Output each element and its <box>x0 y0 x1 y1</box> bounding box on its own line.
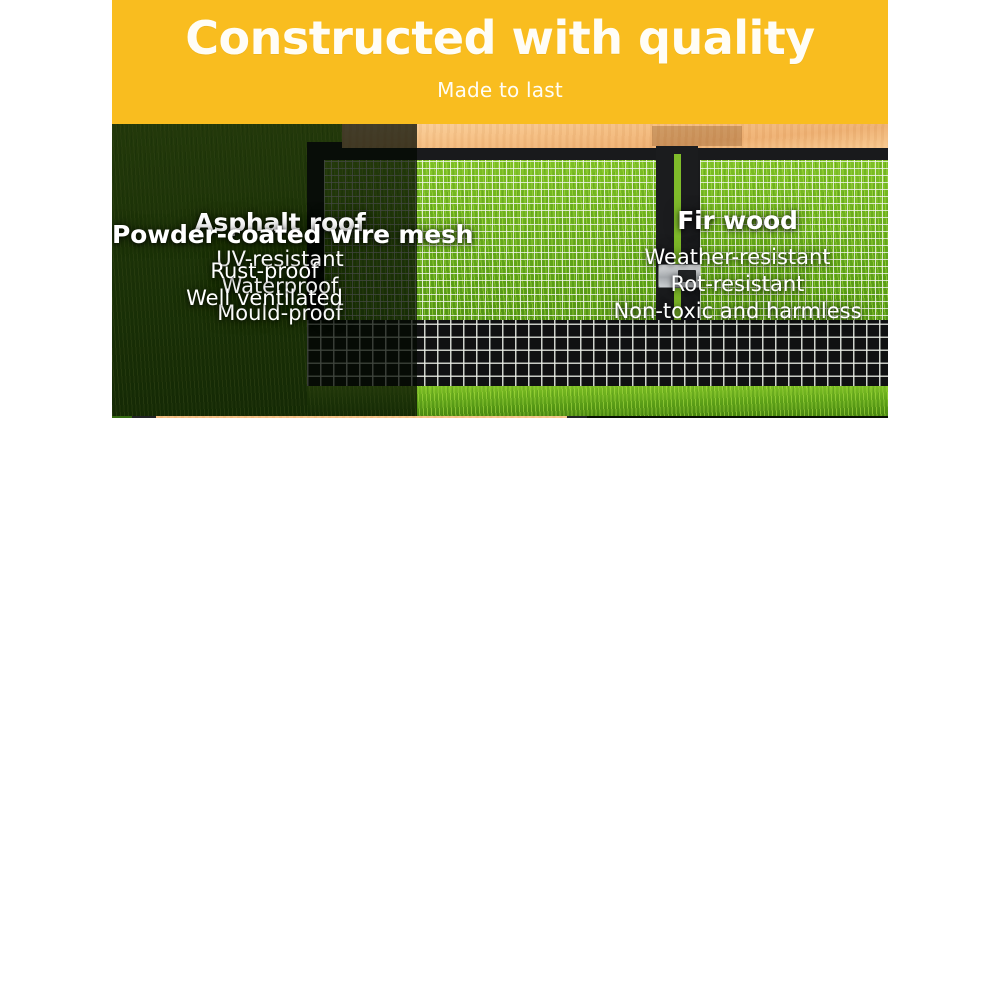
feature-heading: Fir wood <box>590 206 885 235</box>
feature-bullet: Rot-resistant <box>590 271 885 298</box>
header-banner: Constructed with quality Made to last <box>112 0 888 124</box>
caption-fir-wood: Fir wood Weather-resistant Rot-resistant… <box>590 206 885 325</box>
feature-bullet: Rust-proof <box>112 258 417 285</box>
feature-bullet: Non-toxic and harmless <box>590 298 885 325</box>
feature-photo-grid: Asphalt roof UV-resistant Waterproof Mou… <box>112 124 888 1000</box>
feature-heading: Powder-coated wire mesh <box>112 220 417 249</box>
page-title: Constructed with quality <box>112 14 888 62</box>
product-feature-infographic: Constructed with quality Made to last <box>0 0 1000 1000</box>
caption-wire-mesh: Powder-coated wire mesh Rust-proof Well … <box>112 220 417 312</box>
run-top-rail-joint <box>652 126 742 146</box>
page-subtitle: Made to last <box>112 78 888 102</box>
run-top-wood-rail <box>342 124 888 148</box>
feature-bullet: Weather-resistant <box>590 244 885 271</box>
feature-bullet: Well ventilated <box>112 285 417 312</box>
